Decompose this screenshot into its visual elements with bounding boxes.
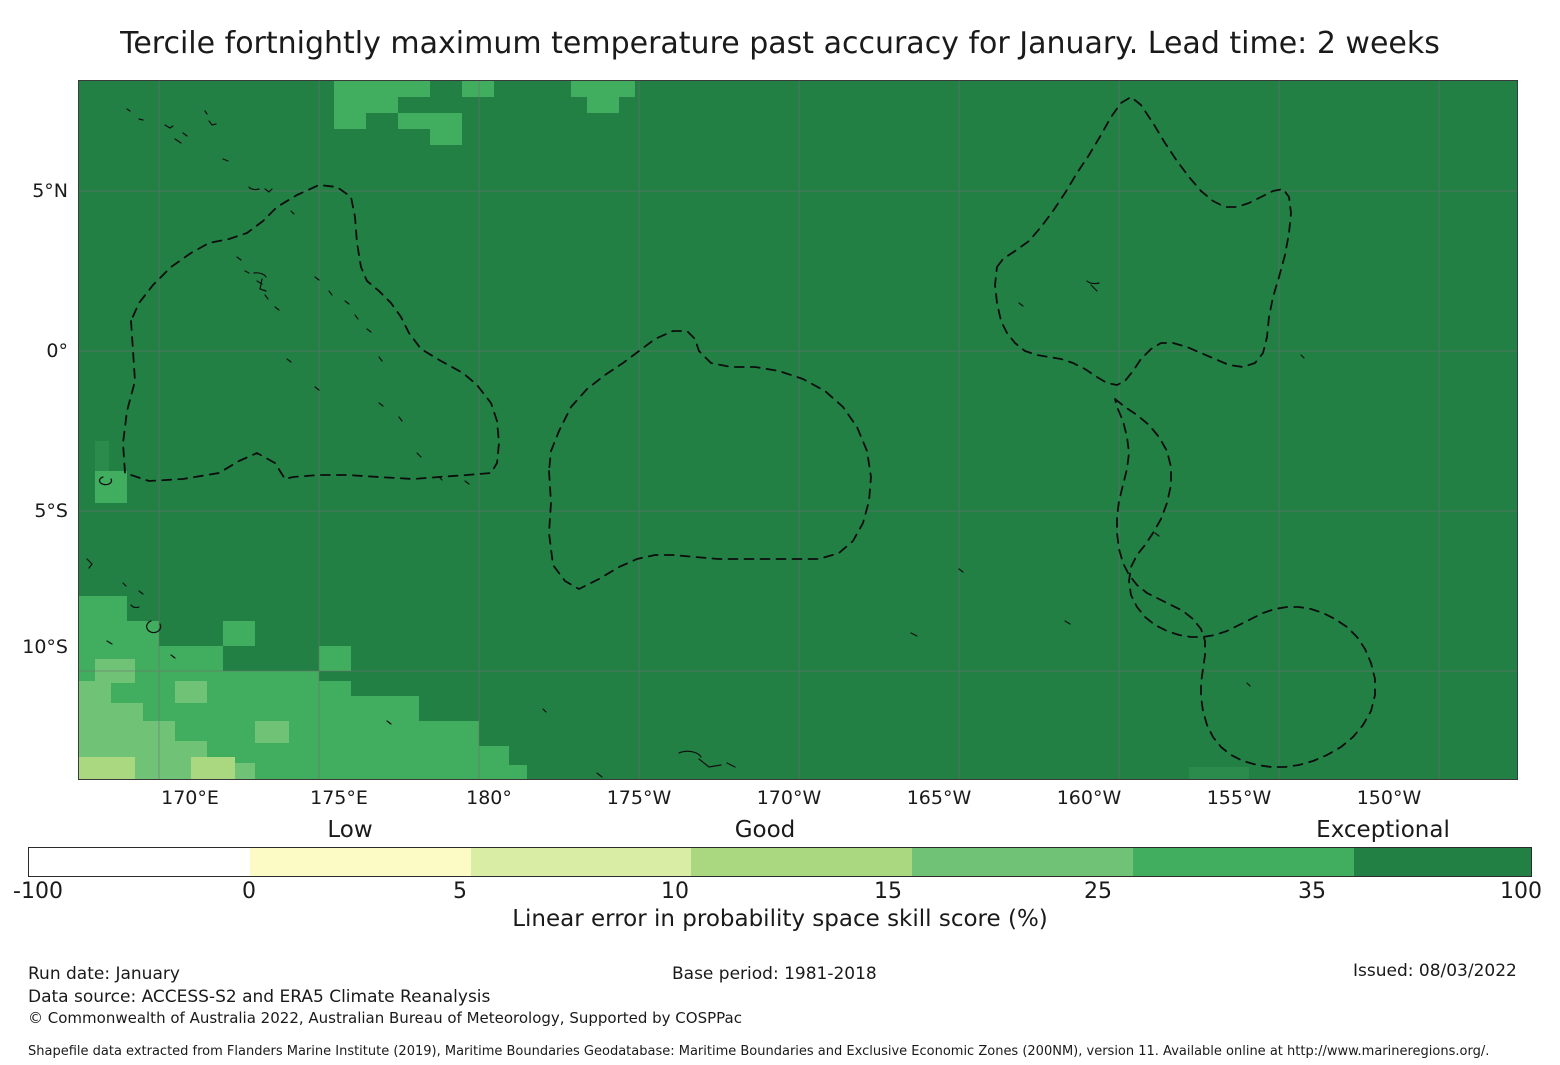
footer-copyright: © Commonwealth of Australia 2022, Austra… xyxy=(28,1007,742,1029)
y-axis-tick-0: 0° xyxy=(46,342,68,361)
colorbar-tick-neg100: -100 xyxy=(13,881,63,903)
colorbar-segment-25-35 xyxy=(1133,848,1354,876)
x-axis-tick-175w: 175°W xyxy=(607,789,672,808)
colorbar-tick-15: 15 xyxy=(874,881,902,903)
colorbar-category-low: Low xyxy=(327,819,372,842)
x-axis-tick-180: 180° xyxy=(466,789,512,808)
colorbar[interactable] xyxy=(28,847,1532,877)
y-axis-tick-10s: 10°S xyxy=(22,638,68,657)
colorbar-tick-25: 25 xyxy=(1084,881,1112,903)
colorbar-category-exceptional: Exceptional xyxy=(1316,819,1450,842)
colorbar-axis-label: Linear error in probability space skill … xyxy=(0,906,1560,932)
x-axis-tick-155w: 155°W xyxy=(1207,789,1272,808)
colorbar-segment-35-100 xyxy=(1354,848,1531,876)
x-axis-tick-170w: 170°W xyxy=(757,789,822,808)
x-axis-tick-170e: 170°E xyxy=(161,789,219,808)
colorbar-tick-5: 5 xyxy=(453,881,467,903)
colorbar-tick-10: 10 xyxy=(661,881,689,903)
map-plot-area[interactable] xyxy=(78,80,1518,780)
colorbar-segment-10-15 xyxy=(691,848,912,876)
footer-issued-date: Issued: 08/03/2022 xyxy=(1353,960,1517,982)
footer-shapefile-attribution: Shapefile data extracted from Flanders M… xyxy=(28,1041,1489,1063)
colorbar-segment-5-10 xyxy=(471,848,692,876)
colorbar-gradient xyxy=(28,847,1532,877)
footer-data-source: Data source: ACCESS-S2 and ERA5 Climate … xyxy=(28,986,490,1008)
y-axis-tick-5s: 5°S xyxy=(34,502,68,521)
x-axis-tick-165w: 165°W xyxy=(907,789,972,808)
colorbar-segment-15-25 xyxy=(912,848,1133,876)
x-axis-tick-160w: 160°W xyxy=(1057,789,1122,808)
colorbar-tick-35: 35 xyxy=(1298,881,1326,903)
colorbar-tick-0: 0 xyxy=(242,881,256,903)
footer-base-period: Base period: 1981-2018 xyxy=(672,963,877,985)
skill-heatmap-raster xyxy=(79,81,1518,780)
footer-run-date: Run date: January xyxy=(28,963,180,985)
colorbar-category-good: Good xyxy=(735,819,796,842)
colorbar-segment-0-5 xyxy=(250,848,471,876)
page-title: Tercile fortnightly maximum temperature … xyxy=(0,26,1560,62)
x-axis-tick-150w: 150°W xyxy=(1357,789,1422,808)
colorbar-segment-neg100-0 xyxy=(29,848,250,876)
x-axis-tick-175e: 175°E xyxy=(310,789,368,808)
y-axis-tick-5n: 5°N xyxy=(32,182,68,201)
colorbar-tick-100: 100 xyxy=(1500,881,1542,903)
